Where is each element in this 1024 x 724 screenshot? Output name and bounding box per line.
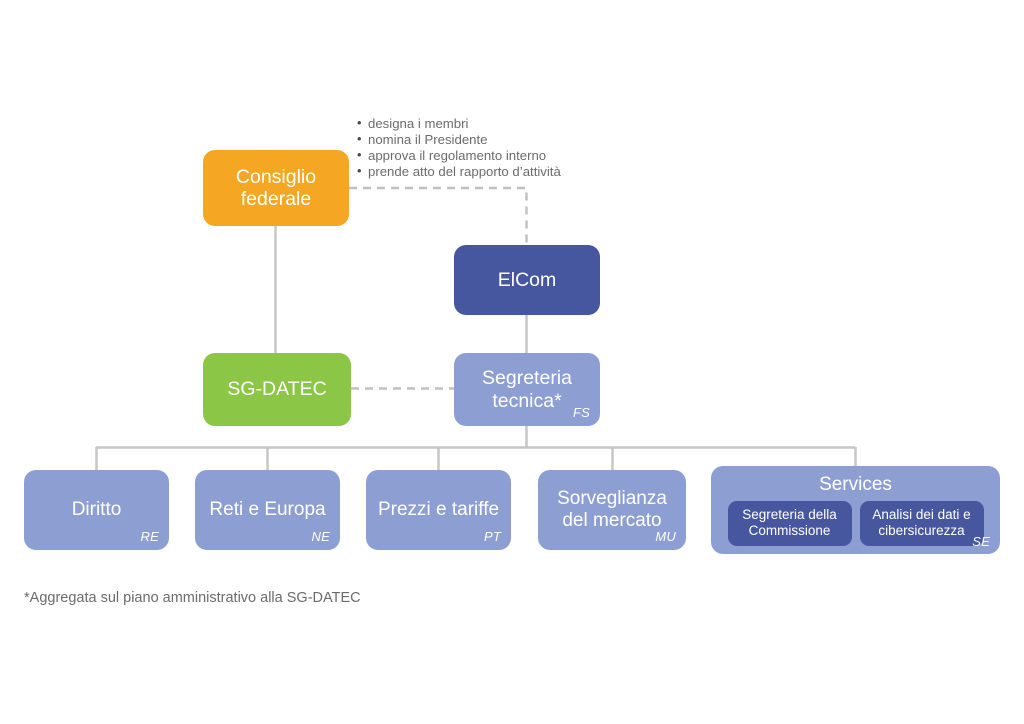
responsibility-item: nomina il Presidente [357,132,561,148]
org-chart: designa i membri nomina il Presidente ap… [0,0,1024,724]
node-services[interactable]: Services Segreteria della Commissione An… [711,466,1000,554]
node-reti-e-europa[interactable]: Reti e Europa NE [195,470,340,550]
node-consiglio-federale[interactable]: Consiglio federale [203,150,349,226]
node-elcom-label: ElCom [488,269,567,291]
node-consiglio-federale-label: Consiglio federale [203,166,349,211]
footnote: *Aggregata sul piano amministrativo alla… [24,590,361,606]
node-prezzi-e-tariffe[interactable]: Prezzi e tariffe PT [366,470,511,550]
node-sorveglianza-del-mercato-abbr: MU [655,530,676,545]
node-segreteria-della-commissione-label: Segreteria della Commissione [734,507,846,540]
connector-consiglio-to-elcom [349,188,527,245]
node-analisi-dei-dati-e-cibersicurezza-label: Analisi dei dati e cibersicurezza [866,507,978,540]
responsibility-item: approva il regolamento interno [357,148,561,164]
node-services-label: Services [711,466,1000,494]
node-sg-datec[interactable]: SG-DATEC [203,353,351,426]
node-prezzi-e-tariffe-label: Prezzi e tariffe [368,499,509,521]
node-services-abbr: SE [972,534,990,549]
responsibility-item: designa i membri [357,116,561,132]
node-diritto-abbr: RE [141,530,159,545]
node-diritto[interactable]: Diritto RE [24,470,169,550]
node-analisi-dei-dati-e-cibersicurezza[interactable]: Analisi dei dati e cibersicurezza [860,501,984,546]
node-segreteria-della-commissione[interactable]: Segreteria della Commissione [728,501,852,546]
responsibility-item: prende atto del rapporto d’attività [357,164,561,180]
node-sg-datec-label: SG-DATEC [217,378,336,400]
node-reti-e-europa-label: Reti e Europa [199,499,335,521]
node-elcom[interactable]: ElCom [454,245,600,315]
node-segreteria-tecnica[interactable]: Segreteria tecnica* FS [454,353,600,426]
node-reti-e-europa-abbr: NE [312,530,330,545]
node-prezzi-e-tariffe-abbr: PT [484,530,501,545]
node-sorveglianza-del-mercato-label: Sorveglianza del mercato [538,488,686,532]
node-segreteria-tecnica-abbr: FS [573,406,590,421]
node-sorveglianza-del-mercato[interactable]: Sorveglianza del mercato MU [538,470,686,550]
services-children: Segreteria della Commissione Analisi dei… [711,501,1000,546]
responsibilities-list: designa i membri nomina il Presidente ap… [357,116,561,180]
node-diritto-label: Diritto [62,499,132,521]
